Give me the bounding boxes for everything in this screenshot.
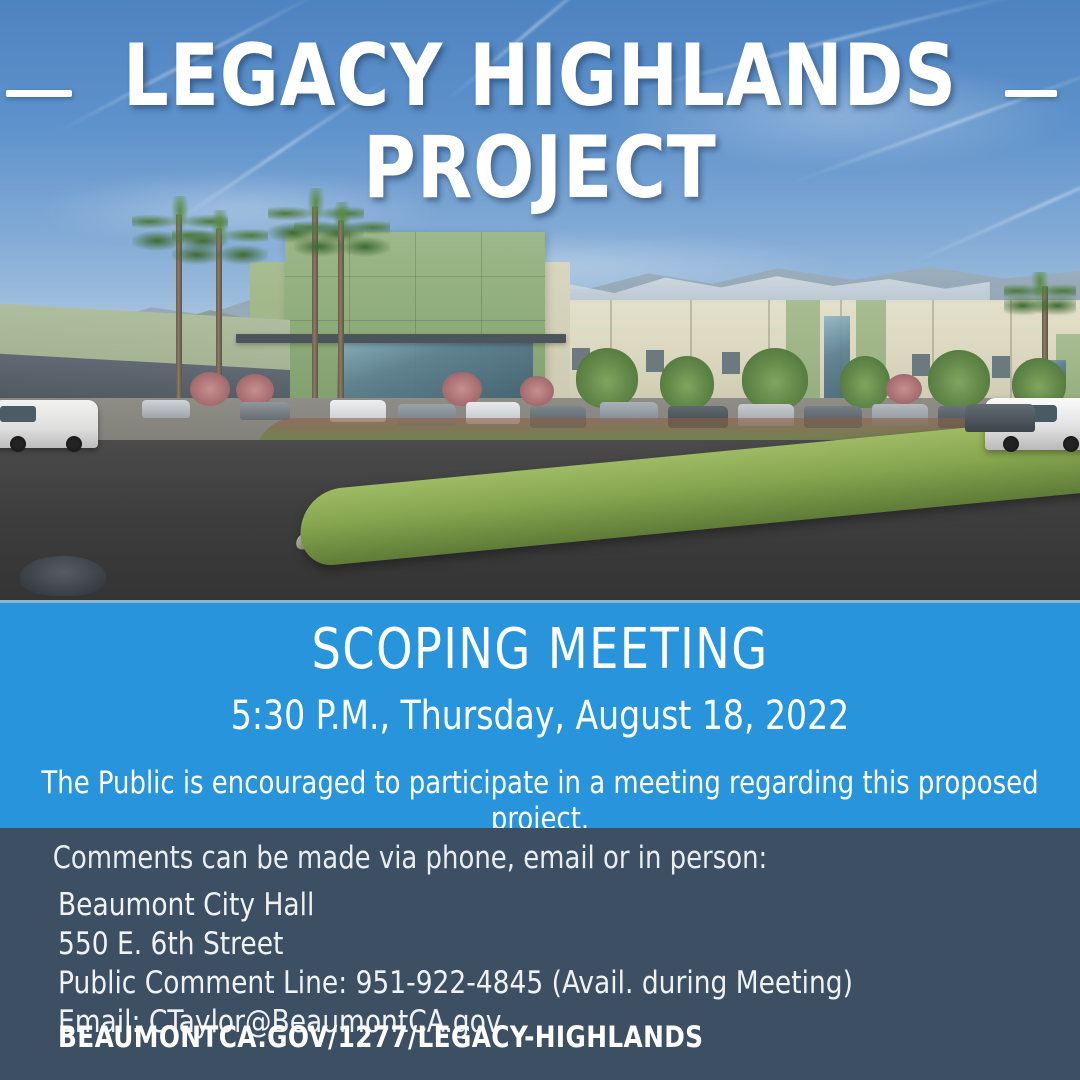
- flowering-tree: [520, 376, 554, 406]
- flowering-tree: [442, 372, 482, 406]
- palm-tree: [172, 210, 268, 274]
- tree: [840, 356, 890, 408]
- foreground-vehicle-partial: [20, 556, 106, 596]
- van-window: [0, 406, 36, 422]
- contact-list: Beaumont City Hall 550 E. 6th Street Pub…: [58, 886, 895, 1042]
- tree: [660, 356, 714, 410]
- title-line-1: LEGACY HIGHLANDS: [38, 30, 1042, 122]
- tree: [576, 348, 638, 408]
- contact-line: Beaumont City Hall: [58, 886, 853, 925]
- tree: [928, 350, 990, 408]
- tree: [742, 348, 808, 410]
- white-van: [0, 400, 98, 448]
- parked-car: [240, 402, 290, 420]
- entry-canopy: [236, 334, 566, 343]
- footer-intro-text: Comments can be made via phone, email or…: [29, 840, 792, 876]
- meeting-datetime: 5:30 P.M., Thursday, August 18, 2022: [43, 693, 1037, 739]
- dark-suv: [965, 404, 1035, 432]
- project-url[interactable]: BEAUMONTCA.GOV/1277/LEGACY-HIGHLANDS: [58, 1020, 703, 1054]
- meeting-info-band: SCOPING MEETING 5:30 P.M., Thursday, Aug…: [0, 600, 1080, 828]
- contact-line: Public Comment Line: 951-922-4845 (Avail…: [58, 964, 853, 1003]
- flyer-canvas: LEGACY HIGHLANDS PROJECT SCOPING MEETING…: [0, 0, 1080, 1080]
- flowering-tree: [886, 374, 922, 404]
- palm-tree: [1004, 272, 1076, 320]
- page-title: LEGACY HIGHLANDS PROJECT: [0, 30, 1080, 214]
- title-line-2: PROJECT: [38, 122, 1042, 214]
- meeting-heading: SCOPING MEETING: [43, 619, 1037, 681]
- flowering-tree: [190, 372, 230, 406]
- parked-car: [142, 400, 190, 418]
- contact-line: 550 E. 6th Street: [58, 925, 853, 964]
- meeting-blurb: The Public is encouraged to participate …: [38, 765, 1042, 837]
